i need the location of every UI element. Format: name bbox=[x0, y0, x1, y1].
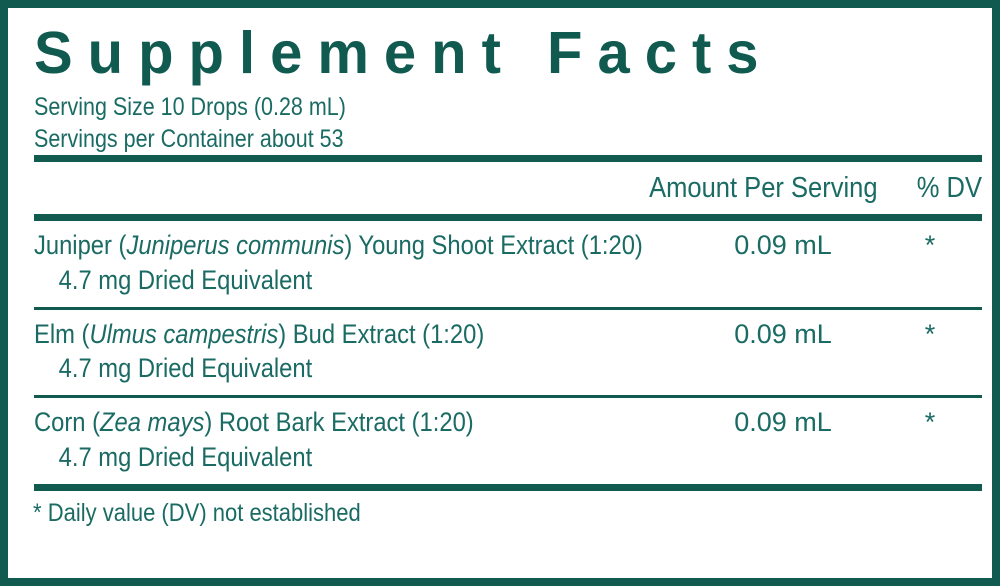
label-inner: Supplement Facts Serving Size 10 Drops (… bbox=[16, 16, 1000, 586]
table-row: Elm (Ulmus campestris) Bud Extract (1:20… bbox=[26, 310, 990, 396]
table-column-header: Amount Per Serving % DV bbox=[26, 162, 990, 214]
ingredient-amount: 0.09 mL bbox=[688, 228, 878, 263]
ingredient-name-prefix: Corn ( bbox=[34, 407, 100, 437]
ingredient-daily-value: * bbox=[878, 228, 982, 263]
ingredient-sub-line: 4.7 mg Dried Equivalent bbox=[34, 351, 610, 386]
ingredient-name-group: Juniper (Juniperus communis) Young Shoot… bbox=[34, 228, 688, 298]
ingredient-sub-line: 4.7 mg Dried Equivalent bbox=[34, 263, 610, 298]
ingredient-name-prefix: Juniper ( bbox=[34, 230, 126, 260]
column-header-amount-per-serving: Amount Per Serving bbox=[650, 172, 878, 205]
ingredient-name: Juniper (Juniperus communis) Young Shoot… bbox=[34, 228, 610, 263]
page-title: Supplement Facts bbox=[34, 24, 990, 83]
ingredient-name-suffix: ) Young Shoot Extract (1:20) bbox=[344, 230, 643, 260]
rule-above-footnote bbox=[34, 484, 982, 491]
ingredient-amount: 0.09 mL bbox=[688, 405, 878, 440]
ingredient-name-group: Corn (Zea mays) Root Bark Extract (1:20)… bbox=[34, 405, 688, 475]
table-row: Corn (Zea mays) Root Bark Extract (1:20)… bbox=[26, 398, 990, 484]
servings-per-container-line: Servings per Container about 53 bbox=[34, 124, 856, 156]
ingredient-name: Corn (Zea mays) Root Bark Extract (1:20) bbox=[34, 405, 610, 440]
daily-value-footnote: * Daily value (DV) not established bbox=[26, 491, 874, 528]
serving-info-block: Serving Size 10 Drops (0.28 mL) Servings… bbox=[34, 92, 990, 155]
ingredient-amount: 0.09 mL bbox=[688, 317, 878, 352]
column-header-percent-dv: % DV bbox=[890, 172, 982, 205]
ingredient-daily-value: * bbox=[878, 405, 982, 440]
ingredient-daily-value: * bbox=[878, 317, 982, 352]
ingredient-name-suffix: ) Bud Extract (1:20) bbox=[278, 319, 484, 349]
ingredient-name-group: Elm (Ulmus campestris) Bud Extract (1:20… bbox=[34, 317, 688, 387]
ingredient-scientific-name: Ulmus campestris bbox=[89, 319, 278, 349]
ingredient-sub-line: 4.7 mg Dried Equivalent bbox=[34, 440, 610, 475]
ingredient-name-prefix: Elm ( bbox=[34, 319, 89, 349]
rule-below-column-header bbox=[34, 214, 982, 221]
ingredient-scientific-name: Zea mays bbox=[100, 407, 204, 437]
ingredient-name: Elm (Ulmus campestris) Bud Extract (1:20… bbox=[34, 317, 610, 352]
rule-above-column-header bbox=[34, 155, 982, 162]
supplement-facts-label: Supplement Facts Serving Size 10 Drops (… bbox=[0, 0, 1000, 586]
serving-size-line: Serving Size 10 Drops (0.28 mL) bbox=[34, 92, 856, 124]
ingredient-scientific-name: Juniperus communis bbox=[126, 230, 344, 260]
ingredient-name-suffix: ) Root Bark Extract (1:20) bbox=[204, 407, 473, 437]
table-row: Juniper (Juniperus communis) Young Shoot… bbox=[26, 221, 990, 307]
